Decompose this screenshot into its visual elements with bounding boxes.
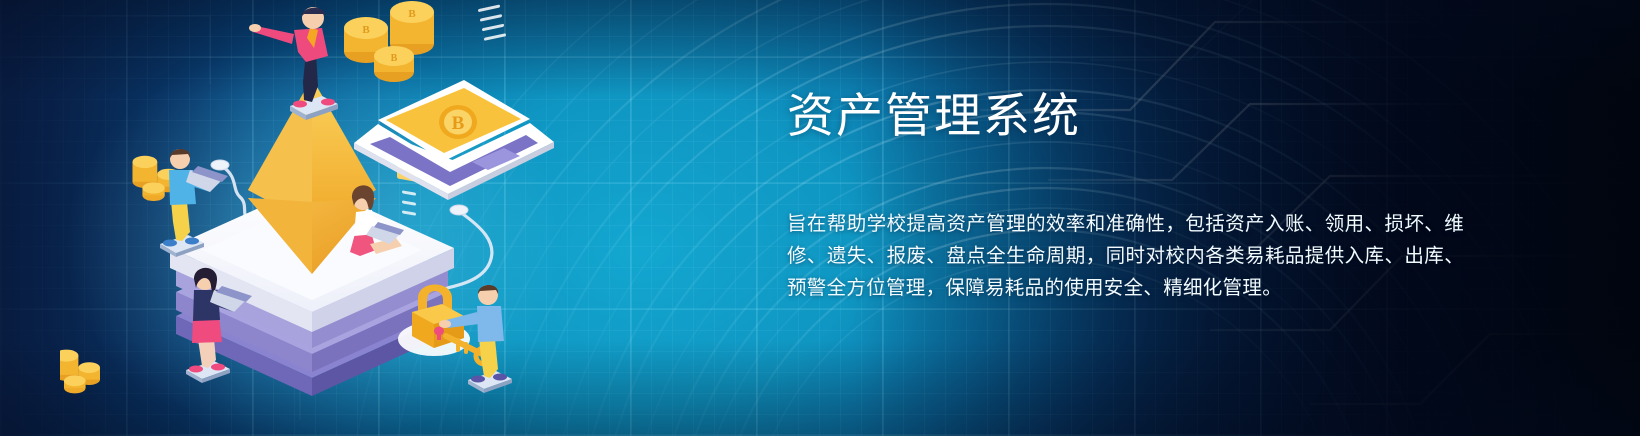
svg-text:B: B — [452, 113, 465, 134]
page-title: 资产管理系统 — [787, 88, 1477, 143]
svg-text:B: B — [408, 8, 416, 20]
page-description: 旨在帮助学校提高资产管理的效率和准确性，包括资产入账、领用、损坏、维修、遗失、报… — [787, 208, 1464, 304]
hero-copy: 资产管理系统 旨在帮助学校提高资产管理的效率和准确性，包括资产入账、领用、损坏、… — [787, 88, 1477, 304]
svg-text:B: B — [391, 53, 398, 64]
svg-text:B: B — [362, 24, 370, 36]
hero-illustration: B B B — [60, 0, 580, 436]
asset-management-hero-banner: B B B — [0, 0, 1640, 436]
